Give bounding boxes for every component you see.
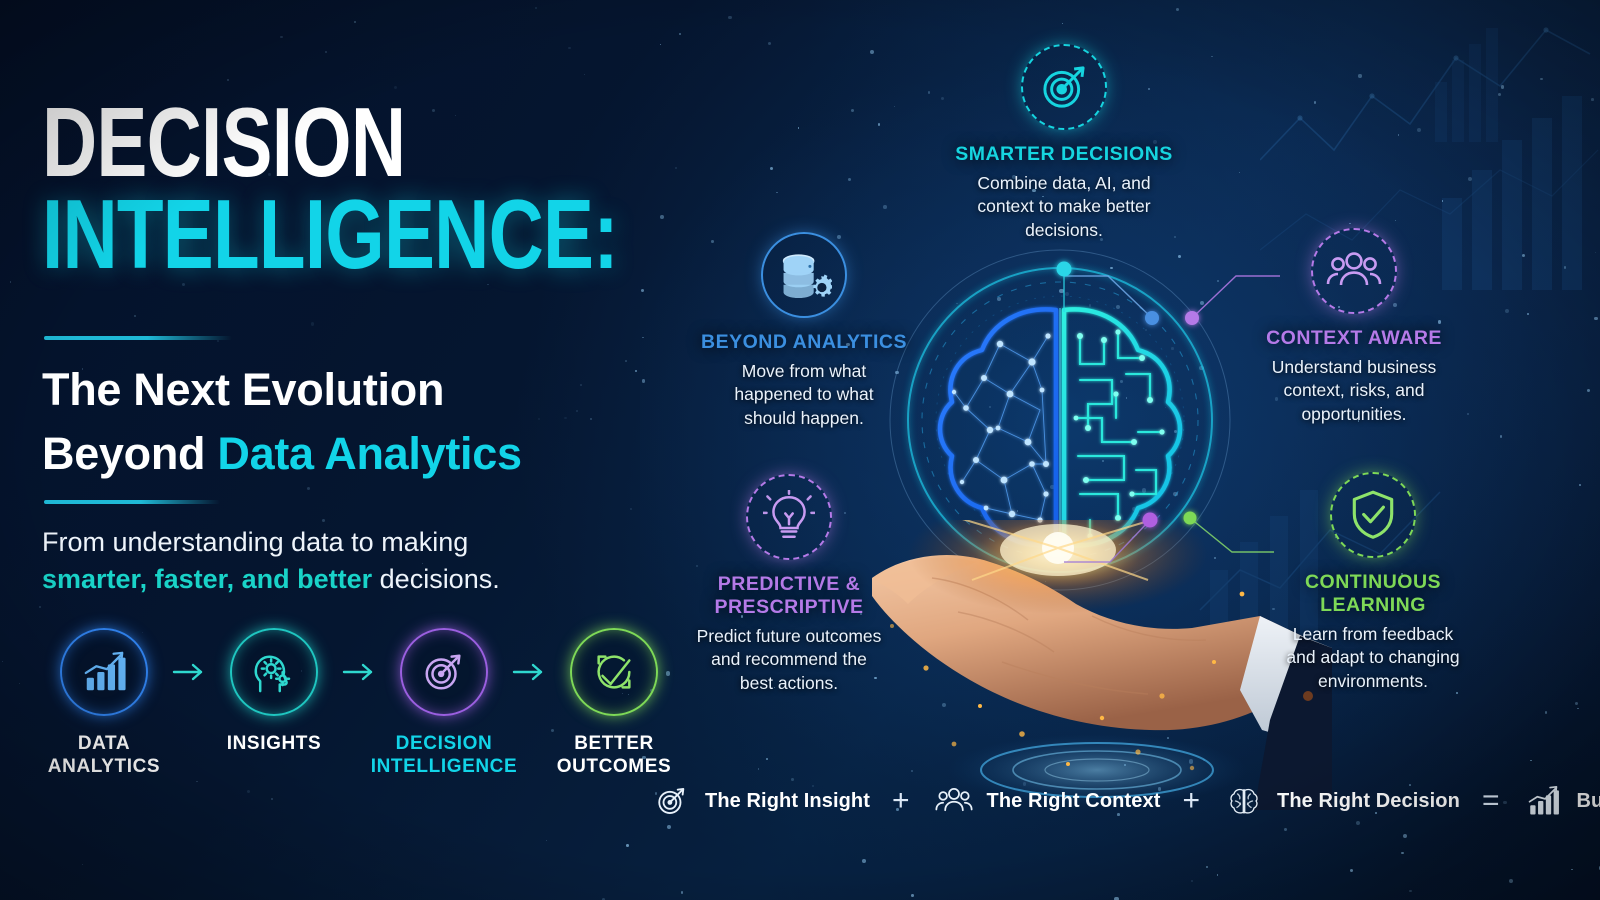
subtitle-line-2: Beyond Data Analytics — [42, 422, 682, 486]
target-arrow-icon — [650, 779, 694, 823]
equation-item-4[interactable]: Business Impact — [1521, 779, 1600, 823]
bar-chart-growth-icon — [1521, 779, 1565, 823]
database-gear-icon — [761, 232, 847, 318]
equation-operator-2: + — [1160, 786, 1222, 816]
flow-step-3[interactable]: DECISION INTELLIGENCE — [382, 628, 506, 778]
feature-title: CONTINUOUS LEARNING — [1252, 571, 1494, 617]
hero-title-block: DECISION INTELLIGENCE: — [42, 96, 682, 280]
kicker-plain: decisions. — [372, 564, 500, 594]
equation-item-label: The Right Decision — [1277, 790, 1460, 813]
feature-title: SMARTER DECISIONS — [942, 143, 1186, 166]
process-flow: DATA ANALYTICS INSIGHTS DECISION INTELLI… — [42, 628, 682, 808]
hero-kicker-block: From understanding data to making smarte… — [42, 524, 682, 599]
feature-card-continuous-learning[interactable]: CONTINUOUS LEARNING Learn from feedback … — [1252, 472, 1494, 693]
equation-item-2[interactable]: The Right Context — [932, 779, 1161, 823]
brain-icon — [1222, 779, 1266, 823]
feature-body: Predict future outcomes and recommend th… — [678, 625, 900, 695]
target-arrow-icon — [1021, 44, 1107, 130]
flow-step-1[interactable]: DATA ANALYTICS — [42, 628, 166, 778]
equation-item-1[interactable]: The Right Insight — [650, 779, 870, 823]
subtitle-line-1: The Next Evolution — [42, 358, 682, 422]
feature-card-smarter-decisions[interactable]: SMARTER DECISIONS Combine data, AI, and … — [942, 44, 1186, 242]
shield-check-icon — [1330, 472, 1416, 558]
equation-item-label: Business Impact — [1576, 790, 1600, 813]
feature-title: BEYOND ANALYTICS — [696, 331, 912, 354]
equation-item-label: The Right Insight — [705, 790, 870, 813]
target-arrow-icon — [400, 628, 488, 716]
flow-step-2[interactable]: INSIGHTS — [212, 628, 336, 755]
page-title-line-2: INTELLIGENCE: — [42, 188, 541, 280]
feature-title: PREDICTIVE & PRESCRIPTIVE — [678, 573, 900, 619]
feature-title: CONTEXT AWARE — [1242, 327, 1466, 350]
feature-card-predictive-prescriptive[interactable]: PREDICTIVE & PRESCRIPTIVE Predict future… — [678, 474, 900, 695]
value-equation-bar: The Right Insight+ The Right Context+ Th… — [650, 770, 1590, 832]
flow-arrow-3 — [506, 628, 552, 716]
divider-top — [44, 336, 232, 340]
flow-arrow-1 — [166, 628, 212, 716]
flow-step-4[interactable]: BETTER OUTCOMES — [552, 628, 676, 778]
divider-bottom — [44, 500, 220, 504]
subtitle-line-2-plain: Beyond — [42, 428, 217, 479]
flow-step-label: INSIGHTS — [227, 732, 322, 755]
feature-body: Move from what happened to what should h… — [696, 360, 912, 430]
bar-chart-growth-icon — [60, 628, 148, 716]
kicker-line-2: smarter, faster, and better decisions. — [42, 561, 682, 598]
feature-card-beyond-analytics[interactable]: BEYOND ANALYTICS Move from what happened… — [696, 232, 912, 430]
flow-arrow-2 — [336, 628, 382, 716]
left-panel: DECISION INTELLIGENCE: The Next Evolutio… — [42, 0, 682, 900]
head-gears-icon — [230, 628, 318, 716]
feature-body: Combine data, AI, and context to make be… — [942, 172, 1186, 242]
people-group-icon — [932, 779, 976, 823]
feature-body: Learn from feedback and adapt to changin… — [1252, 623, 1494, 693]
people-group-icon — [1311, 228, 1397, 314]
equation-operator-3: = — [1460, 786, 1522, 816]
flow-step-label: DATA ANALYTICS — [48, 732, 160, 778]
feature-body: Understand business context, risks, and … — [1242, 356, 1466, 426]
flow-step-label: DECISION INTELLIGENCE — [371, 732, 518, 778]
subtitle-line-2-highlight: Data Analytics — [217, 428, 521, 479]
check-cycle-icon — [570, 628, 658, 716]
equation-item-3[interactable]: The Right Decision — [1222, 779, 1460, 823]
page-title-line-1: DECISION — [42, 96, 541, 188]
lightbulb-icon — [746, 474, 832, 560]
equation-item-label: The Right Context — [987, 790, 1161, 813]
kicker-line-1: From understanding data to making — [42, 524, 682, 561]
hero-subtitle-block: The Next Evolution Beyond Data Analytics — [42, 358, 682, 486]
equation-operator-1: + — [870, 786, 932, 816]
infographic-canvas: DECISION INTELLIGENCE: The Next Evolutio… — [0, 0, 1600, 900]
feature-card-context-aware[interactable]: CONTEXT AWARE Understand business contex… — [1242, 228, 1466, 426]
kicker-highlight: smarter, faster, and better — [42, 564, 372, 594]
